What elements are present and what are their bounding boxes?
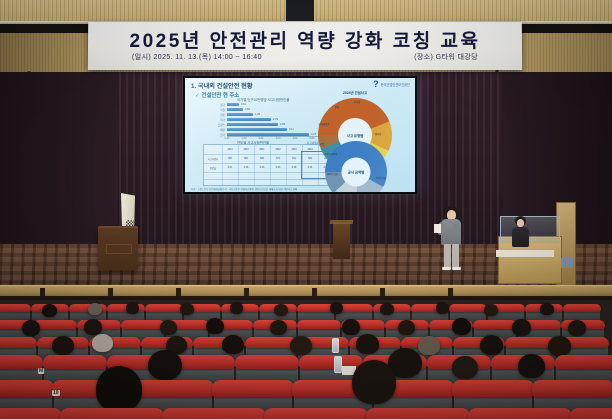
table-cell: 0.46 — [244, 167, 248, 169]
booth-monitor — [561, 258, 573, 268]
audience-head — [42, 304, 57, 317]
audience-head — [206, 318, 224, 334]
audience-head — [568, 320, 586, 336]
bar-label: 미국 — [203, 118, 225, 122]
table-row — [227, 113, 253, 116]
audience-head — [548, 336, 571, 356]
table-cell: 855 — [228, 158, 232, 160]
table-cell: 882 — [244, 158, 248, 160]
audience-head — [418, 336, 440, 355]
audience-head — [22, 320, 40, 336]
column-header: 2023 — [291, 149, 296, 151]
water-bottle — [334, 356, 342, 373]
bar-chart: 영국 0.61 독일 0.82 일본 1.35 미국 2.29 프랑스 2.65… — [203, 100, 335, 140]
row-label: 만인율 — [210, 166, 216, 170]
table-cell: 0.51 — [228, 167, 232, 169]
table-row — [227, 128, 287, 131]
donut-segment-label: 떨어짐 — [375, 132, 382, 136]
seat-number-tag: 10 — [52, 390, 60, 396]
table-row — [227, 123, 278, 126]
audience-head — [160, 320, 177, 335]
table-cell: 0.43 — [276, 167, 280, 169]
x-tick: 5.00 — [310, 137, 315, 140]
audience-head-front — [148, 350, 182, 380]
table-cell: 0.39 — [292, 167, 296, 169]
column-header: 2024 — [307, 149, 312, 151]
table-cell: 0.43 — [260, 167, 264, 169]
audience-head — [484, 304, 498, 316]
table-cell: 589 — [308, 158, 312, 160]
presenter-document — [434, 224, 441, 233]
slide-subtitle: ✓건설안전 현 주소 — [195, 91, 239, 99]
x-tick: 0.00 — [225, 137, 230, 140]
audience-head — [512, 319, 531, 336]
donut-segment-label: 50억 미만 — [376, 176, 386, 180]
bar-label: 대만 — [203, 128, 225, 132]
auditorium-photo: 2025년 안전관리 역량 강화 코칭 교육 (일시) 2025. 11. 13… — [0, 0, 612, 419]
column-header: 2021 — [259, 149, 264, 151]
table-cell: 812 — [292, 158, 296, 160]
audience-head — [230, 302, 243, 314]
audience-head — [290, 336, 312, 355]
audience-head — [222, 335, 244, 354]
table-cell: 0.34 — [308, 167, 312, 169]
bar-label: 한국 — [203, 133, 225, 137]
operator-head — [517, 219, 524, 227]
audience-head — [52, 336, 74, 355]
audience-head — [126, 302, 139, 314]
event-banner: 2025년 안전관리 역량 강화 코칭 교육 (일시) 2025. 11. 13… — [88, 22, 522, 70]
presenter-shoe — [452, 267, 461, 270]
audience-head — [518, 354, 545, 378]
donut-segment-label: 무너짐 — [354, 100, 361, 104]
banner-title: 2025년 안전관리 역량 강화 코칭 교육 — [88, 26, 522, 53]
bar-label: 영국 — [203, 103, 225, 107]
donut-segment-label: 50억~120억 — [325, 152, 337, 156]
audience-head — [88, 303, 102, 315]
audience-head — [380, 303, 394, 315]
x-tick: 3.00 — [276, 137, 281, 140]
audience-head — [342, 319, 360, 335]
bar-value: 0.61 — [241, 103, 246, 106]
bar-label: 프랑스 — [203, 123, 225, 127]
audience-head — [452, 318, 471, 335]
donut-top-center-label: 사고 유형별 — [347, 133, 364, 138]
audience-head-gray — [92, 334, 113, 352]
table-cell: 828 — [260, 158, 264, 160]
banner-date: (일시) 2025. 11. 13.(목) 14:00 ~ 16:40 — [132, 52, 262, 62]
audience-head — [84, 319, 102, 335]
x-tick: 4.00 — [293, 137, 298, 140]
data-table: 사고사망자 사망만인율 — [203, 144, 337, 186]
donut-bottom-center-label: 공사 금액별 — [348, 170, 365, 175]
check-icon: ✓ — [195, 93, 200, 99]
bar-value: 2.29 — [273, 118, 278, 121]
column-header: 2019 — [227, 149, 232, 151]
bar-label: 독일 — [203, 108, 225, 112]
logo-mark-icon: ? — [373, 80, 379, 89]
audience-head — [180, 303, 194, 315]
audience-head — [356, 334, 379, 354]
slide-title: 1. 국내외 건설안전 현황 — [191, 81, 253, 90]
bar-value: 1.35 — [255, 113, 260, 116]
booth-desk-surface — [496, 250, 554, 257]
projection-screen: 1. 국내외 건설안전 현황 ✓건설안전 현 주소 ? 한국산업안전보건공단 국… — [183, 76, 417, 194]
bar-value: 3.11 — [289, 128, 294, 131]
donut-segment-label: 깔림 — [335, 105, 339, 109]
donut-segment-label: 120억 이상 — [326, 172, 337, 176]
booth-glass-partition — [500, 216, 560, 244]
audience-head — [452, 356, 478, 379]
audience-head — [270, 320, 287, 335]
donut-segment-label: 끼임 — [320, 142, 324, 146]
column-header: 2022 — [275, 149, 280, 151]
audience-head — [436, 302, 449, 314]
presenter-leg — [452, 244, 459, 268]
table-row — [227, 108, 243, 111]
table-row — [227, 118, 271, 121]
table-cell: 874 — [276, 158, 280, 160]
row-label: 사고사망자 — [208, 157, 219, 161]
slide-footnote: 자료 : 고용노동부 산업재해현황분석 · 국토교통부 건설사고통계, 안전보건… — [191, 187, 297, 191]
logo-text: 한국산업안전보건공단 — [381, 82, 410, 87]
slide-subtitle-text: 건설안전 현 주소 — [202, 93, 240, 99]
audience-head — [274, 304, 288, 316]
audience-head — [398, 320, 415, 335]
banner-place: (장소) G타워 대강당 — [414, 52, 478, 62]
audience-head — [480, 335, 503, 355]
bar-value: 0.82 — [245, 108, 250, 111]
lectern-left — [98, 226, 138, 270]
bar-value: 2.65 — [280, 123, 285, 126]
seat-row-tag: M — [38, 368, 44, 374]
presentation-slide: 1. 국내외 건설안전 현황 ✓건설안전 현 주소 ? 한국산업안전보건공단 국… — [185, 78, 415, 192]
audience-seating-area: M 10 — [0, 300, 612, 419]
audience-head — [540, 303, 554, 315]
table-row — [227, 103, 239, 106]
donut-segment-label: 물체에맞음 — [319, 122, 330, 126]
presenter-leg — [444, 244, 451, 268]
audience-head-closest — [352, 360, 396, 404]
operator-torso — [512, 227, 529, 247]
audience-head — [330, 302, 343, 314]
donut-top-title: 2024년 건설사고 — [343, 90, 367, 95]
audience-head-closest — [96, 366, 142, 412]
column-header: 2020 — [243, 149, 248, 151]
lectern-right — [333, 223, 350, 259]
organization-logo: ? 한국산업안전보건공단 — [373, 80, 410, 89]
water-bottle — [332, 338, 339, 353]
bar-label: 일본 — [203, 113, 225, 117]
presenter-shoe — [442, 267, 451, 270]
